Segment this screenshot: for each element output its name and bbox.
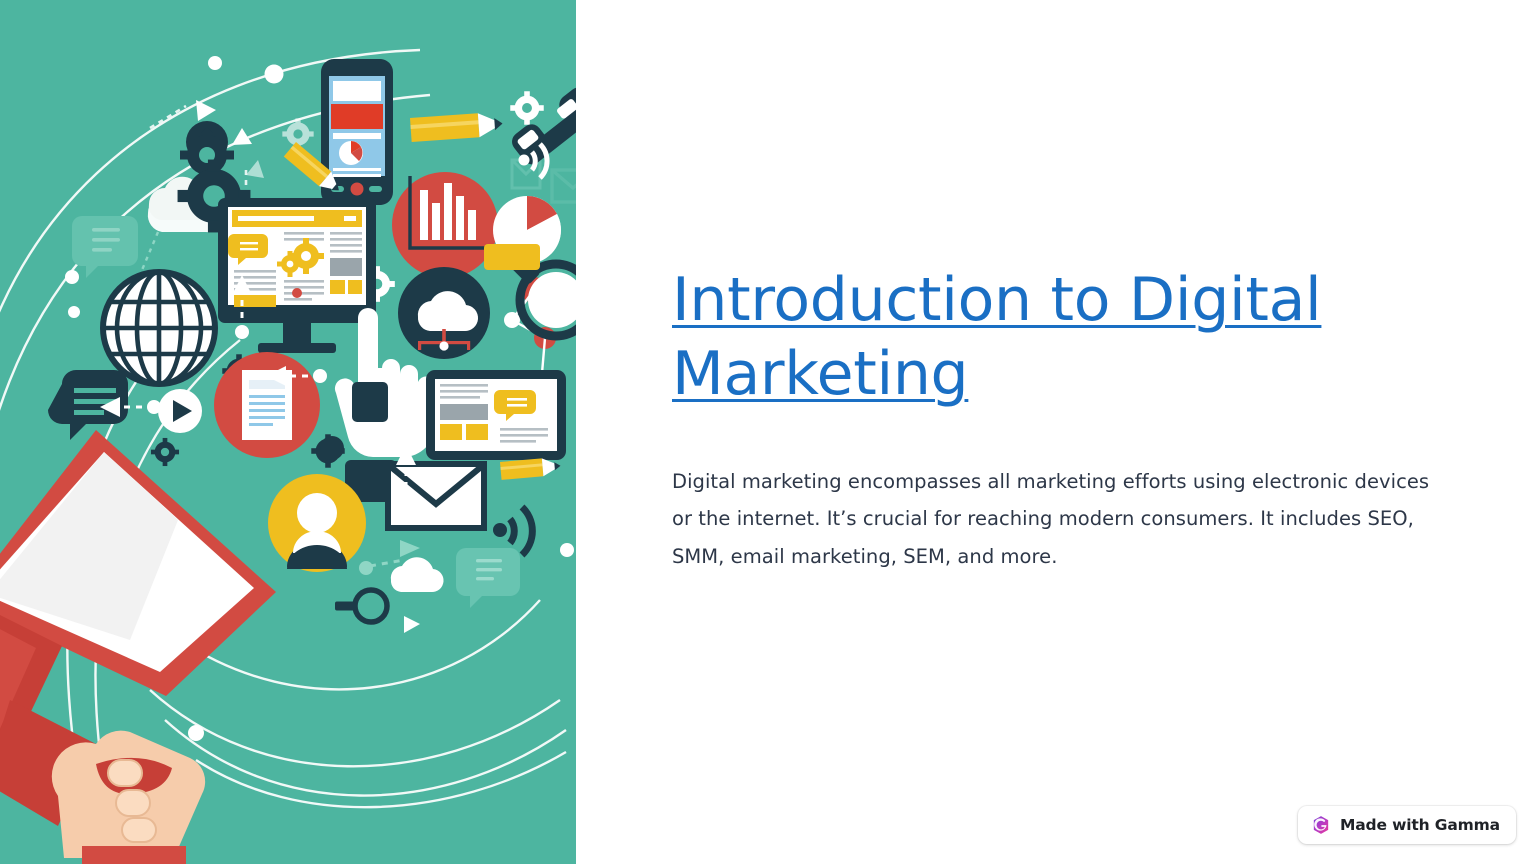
slide-canvas: Introduction to Digital Marketing Digita… (0, 0, 1536, 864)
made-with-gamma-label: Made with Gamma (1340, 816, 1500, 834)
content-panel: Introduction to Digital Marketing Digita… (576, 0, 1536, 864)
content-inner: Introduction to Digital Marketing Digita… (672, 264, 1442, 575)
made-with-gamma-badge[interactable]: Made with Gamma (1298, 806, 1516, 844)
illustration-panel (0, 0, 576, 864)
slide-title[interactable]: Introduction to Digital Marketing (672, 264, 1442, 410)
slide-body-text: Digital marketing encompasses all market… (672, 463, 1442, 576)
gamma-logo-icon (1311, 815, 1331, 835)
digital-marketing-illustration (0, 0, 576, 864)
